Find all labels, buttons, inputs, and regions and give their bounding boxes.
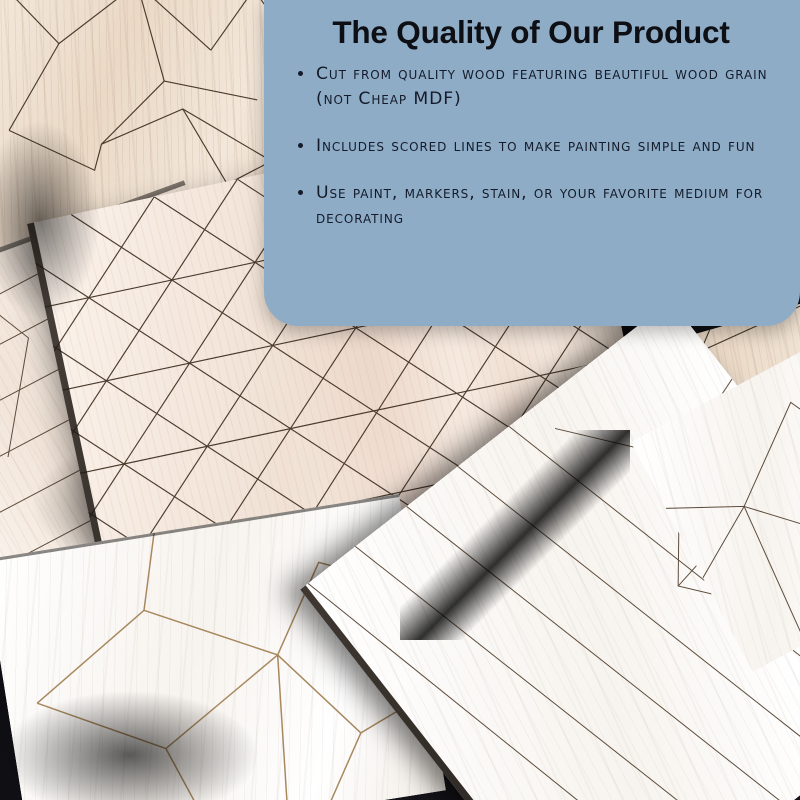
product-quality-info-panel: The Quality of Our Product Cut from qual…	[264, 0, 800, 326]
feature-bullet-item: Cut from quality wood featuring beautifu…	[294, 62, 786, 112]
bullet-dot-icon	[298, 71, 303, 76]
feature-bullet-text: Cut from quality wood featuring beautifu…	[316, 64, 767, 109]
panel-title: The Quality of Our Product	[272, 14, 790, 51]
feature-bullet-list: Cut from quality wood featuring beautifu…	[294, 62, 786, 231]
panel-shadow	[400, 430, 630, 640]
product-image: The Quality of Our Product Cut from qual…	[0, 0, 800, 800]
feature-bullet-text: Use paint, markers, stain, or your favor…	[316, 183, 763, 228]
feature-bullet-text: Includes scored lines to make painting s…	[316, 136, 755, 156]
panel-shadow	[0, 120, 100, 320]
feature-bullet-item: Use paint, markers, stain, or your favor…	[294, 181, 786, 231]
bullet-dot-icon	[298, 190, 303, 195]
bullet-dot-icon	[298, 143, 303, 148]
panel-shadow	[0, 690, 260, 800]
feature-bullet-item: Includes scored lines to make painting s…	[294, 134, 786, 159]
